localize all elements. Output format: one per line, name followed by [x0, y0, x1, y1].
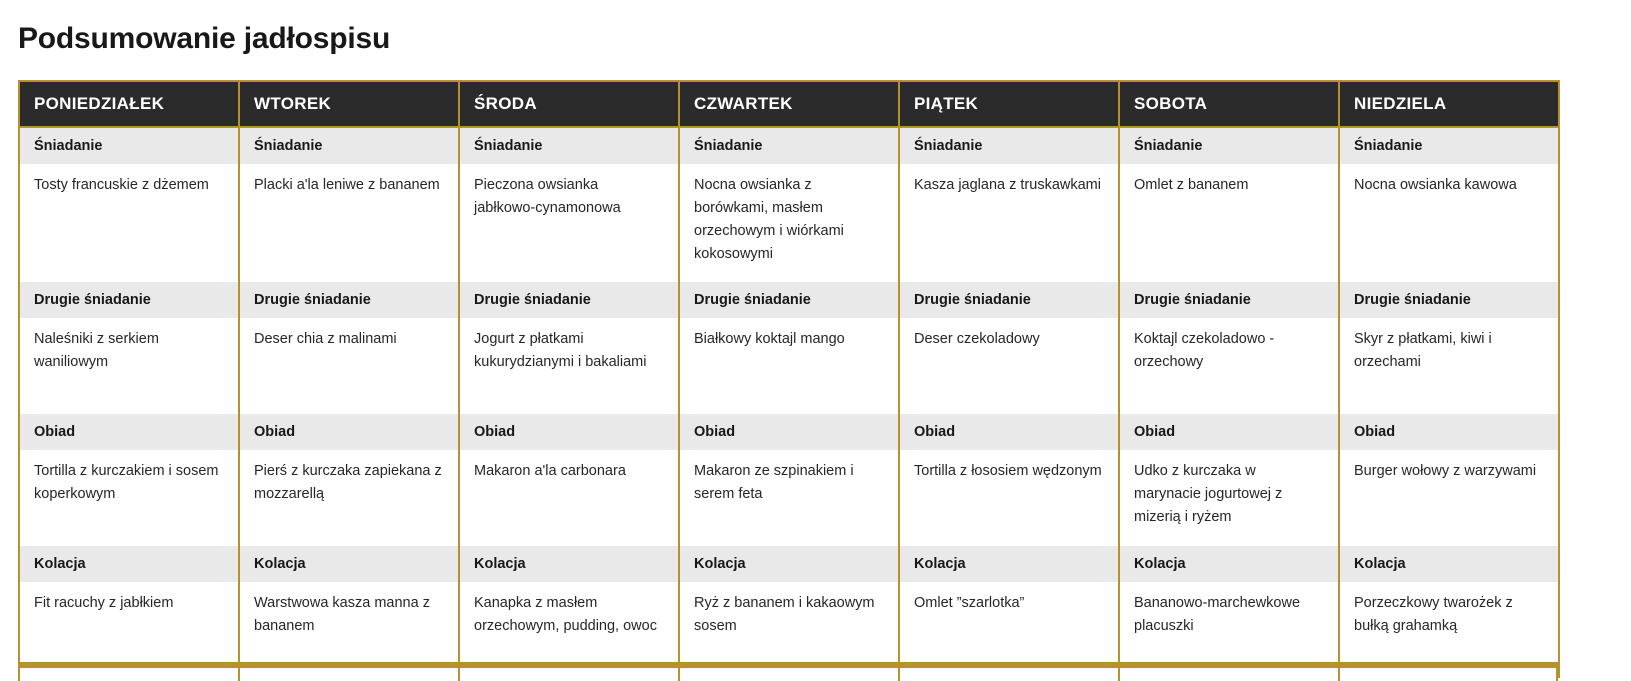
meal-label-row-breakfast: Śniadanie Śniadanie Śniadanie Śniadanie …: [19, 127, 1559, 164]
meal-label-second-breakfast-thursday: Drugie śniadanie: [679, 282, 899, 318]
meal-item-row-lunch: Tortilla z kurczakiem i sosem koperkowym…: [19, 450, 1559, 546]
day-header-monday: PONIEDZIAŁEK: [19, 81, 239, 127]
day-header-wednesday: ŚRODA: [459, 81, 679, 127]
meal-label-breakfast-saturday: Śniadanie: [1119, 127, 1339, 164]
meal-label-lunch-wednesday: Obiad: [459, 414, 679, 450]
day-header-friday: PIĄTEK: [899, 81, 1119, 127]
meal-label-lunch-sunday: Obiad: [1339, 414, 1559, 450]
meal-item-second-breakfast-tuesday: Deser chia z malinami: [239, 318, 459, 414]
menu-table-body: Śniadanie Śniadanie Śniadanie Śniadanie …: [19, 127, 1559, 678]
menu-table-header: PONIEDZIAŁEK WTOREK ŚRODA CZWARTEK PIĄTE…: [19, 81, 1559, 127]
column-divider-2: [458, 668, 460, 681]
day-header-row: PONIEDZIAŁEK WTOREK ŚRODA CZWARTEK PIĄTE…: [19, 81, 1559, 127]
meal-label-second-breakfast-tuesday: Drugie śniadanie: [239, 282, 459, 318]
column-divider-4: [898, 668, 900, 681]
meal-label-breakfast-tuesday: Śniadanie: [239, 127, 459, 164]
meal-label-second-breakfast-sunday: Drugie śniadanie: [1339, 282, 1559, 318]
meal-label-second-breakfast-wednesday: Drugie śniadanie: [459, 282, 679, 318]
meal-item-second-breakfast-friday: Deser czekoladowy: [899, 318, 1119, 414]
meal-item-lunch-saturday: Udko z kurczaka w marynacie jogurtowej z…: [1119, 450, 1339, 546]
day-header-sunday: NIEDZIELA: [1339, 81, 1559, 127]
meal-label-lunch-monday: Obiad: [19, 414, 239, 450]
meal-item-second-breakfast-monday: Naleśniki z serkiem waniliowym: [19, 318, 239, 414]
meal-item-breakfast-thursday: Nocna owsianka z borówkami, masłem orzec…: [679, 164, 899, 282]
column-divider-5: [1118, 668, 1120, 681]
table-continuation-strip: [18, 668, 1558, 681]
meal-item-breakfast-monday: Tosty francuskie z dżemem: [19, 164, 239, 282]
day-header-thursday: CZWARTEK: [679, 81, 899, 127]
meal-item-breakfast-sunday: Nocna owsianka kawowa: [1339, 164, 1559, 282]
meal-label-breakfast-sunday: Śniadanie: [1339, 127, 1559, 164]
meal-label-second-breakfast-monday: Drugie śniadanie: [19, 282, 239, 318]
column-divider-3: [678, 668, 680, 681]
meal-item-breakfast-friday: Kasza jaglana z truskawkami: [899, 164, 1119, 282]
meal-item-lunch-thursday: Makaron ze szpinakiem i serem feta: [679, 450, 899, 546]
menu-table-container: PONIEDZIAŁEK WTOREK ŚRODA CZWARTEK PIĄTE…: [18, 80, 1558, 678]
meal-label-dinner-saturday: Kolacja: [1119, 546, 1339, 582]
meal-label-dinner-monday: Kolacja: [19, 546, 239, 582]
day-header-saturday: SOBOTA: [1119, 81, 1339, 127]
meal-item-row-breakfast: Tosty francuskie z dżemem Placki a'la le…: [19, 164, 1559, 282]
meal-item-breakfast-saturday: Omlet z bananem: [1119, 164, 1339, 282]
meal-label-row-dinner: Kolacja Kolacja Kolacja Kolacja Kolacja …: [19, 546, 1559, 582]
day-header-tuesday: WTOREK: [239, 81, 459, 127]
meal-label-breakfast-wednesday: Śniadanie: [459, 127, 679, 164]
page-title: Podsumowanie jadłospisu: [0, 0, 1631, 58]
meal-label-row-second-breakfast: Drugie śniadanie Drugie śniadanie Drugie…: [19, 282, 1559, 318]
meal-label-dinner-wednesday: Kolacja: [459, 546, 679, 582]
meal-item-row-second-breakfast: Naleśniki z serkiem waniliowym Deser chi…: [19, 318, 1559, 414]
meal-label-dinner-tuesday: Kolacja: [239, 546, 459, 582]
meal-item-lunch-friday: Tortilla z łososiem wędzonym: [899, 450, 1119, 546]
meal-label-lunch-saturday: Obiad: [1119, 414, 1339, 450]
meal-item-second-breakfast-wednesday: Jogurt z płatkami kukurydzianymi i bakal…: [459, 318, 679, 414]
menu-table: PONIEDZIAŁEK WTOREK ŚRODA CZWARTEK PIĄTE…: [18, 80, 1560, 678]
menu-summary-page: Podsumowanie jadłospisu PONIEDZIAŁEK WTO…: [0, 0, 1631, 681]
meal-item-lunch-monday: Tortilla z kurczakiem i sosem koperkowym: [19, 450, 239, 546]
meal-label-dinner-friday: Kolacja: [899, 546, 1119, 582]
meal-label-second-breakfast-friday: Drugie śniadanie: [899, 282, 1119, 318]
meal-item-breakfast-tuesday: Placki a'la leniwe z bananem: [239, 164, 459, 282]
meal-label-lunch-thursday: Obiad: [679, 414, 899, 450]
meal-label-row-lunch: Obiad Obiad Obiad Obiad Obiad Obiad Obia…: [19, 414, 1559, 450]
meal-label-lunch-tuesday: Obiad: [239, 414, 459, 450]
meal-item-lunch-tuesday: Pierś z kurczaka zapiekana z mozzarellą: [239, 450, 459, 546]
meal-item-second-breakfast-saturday: Koktajl czekoladowo - orzechowy: [1119, 318, 1339, 414]
meal-label-dinner-sunday: Kolacja: [1339, 546, 1559, 582]
meal-item-lunch-sunday: Burger wołowy z warzywami: [1339, 450, 1559, 546]
meal-label-second-breakfast-saturday: Drugie śniadanie: [1119, 282, 1339, 318]
meal-label-lunch-friday: Obiad: [899, 414, 1119, 450]
meal-item-breakfast-wednesday: Pieczona owsianka jabłkowo-cynamonowa: [459, 164, 679, 282]
column-divider-1: [238, 668, 240, 681]
meal-label-breakfast-thursday: Śniadanie: [679, 127, 899, 164]
column-divider-6: [1338, 668, 1340, 681]
meal-item-second-breakfast-sunday: Skyr z płatkami, kiwi i orzechami: [1339, 318, 1559, 414]
meal-label-breakfast-friday: Śniadanie: [899, 127, 1119, 164]
meal-label-breakfast-monday: Śniadanie: [19, 127, 239, 164]
meal-label-dinner-thursday: Kolacja: [679, 546, 899, 582]
meal-item-lunch-wednesday: Makaron a'la carbonara: [459, 450, 679, 546]
meal-item-second-breakfast-thursday: Białkowy koktajl mango: [679, 318, 899, 414]
